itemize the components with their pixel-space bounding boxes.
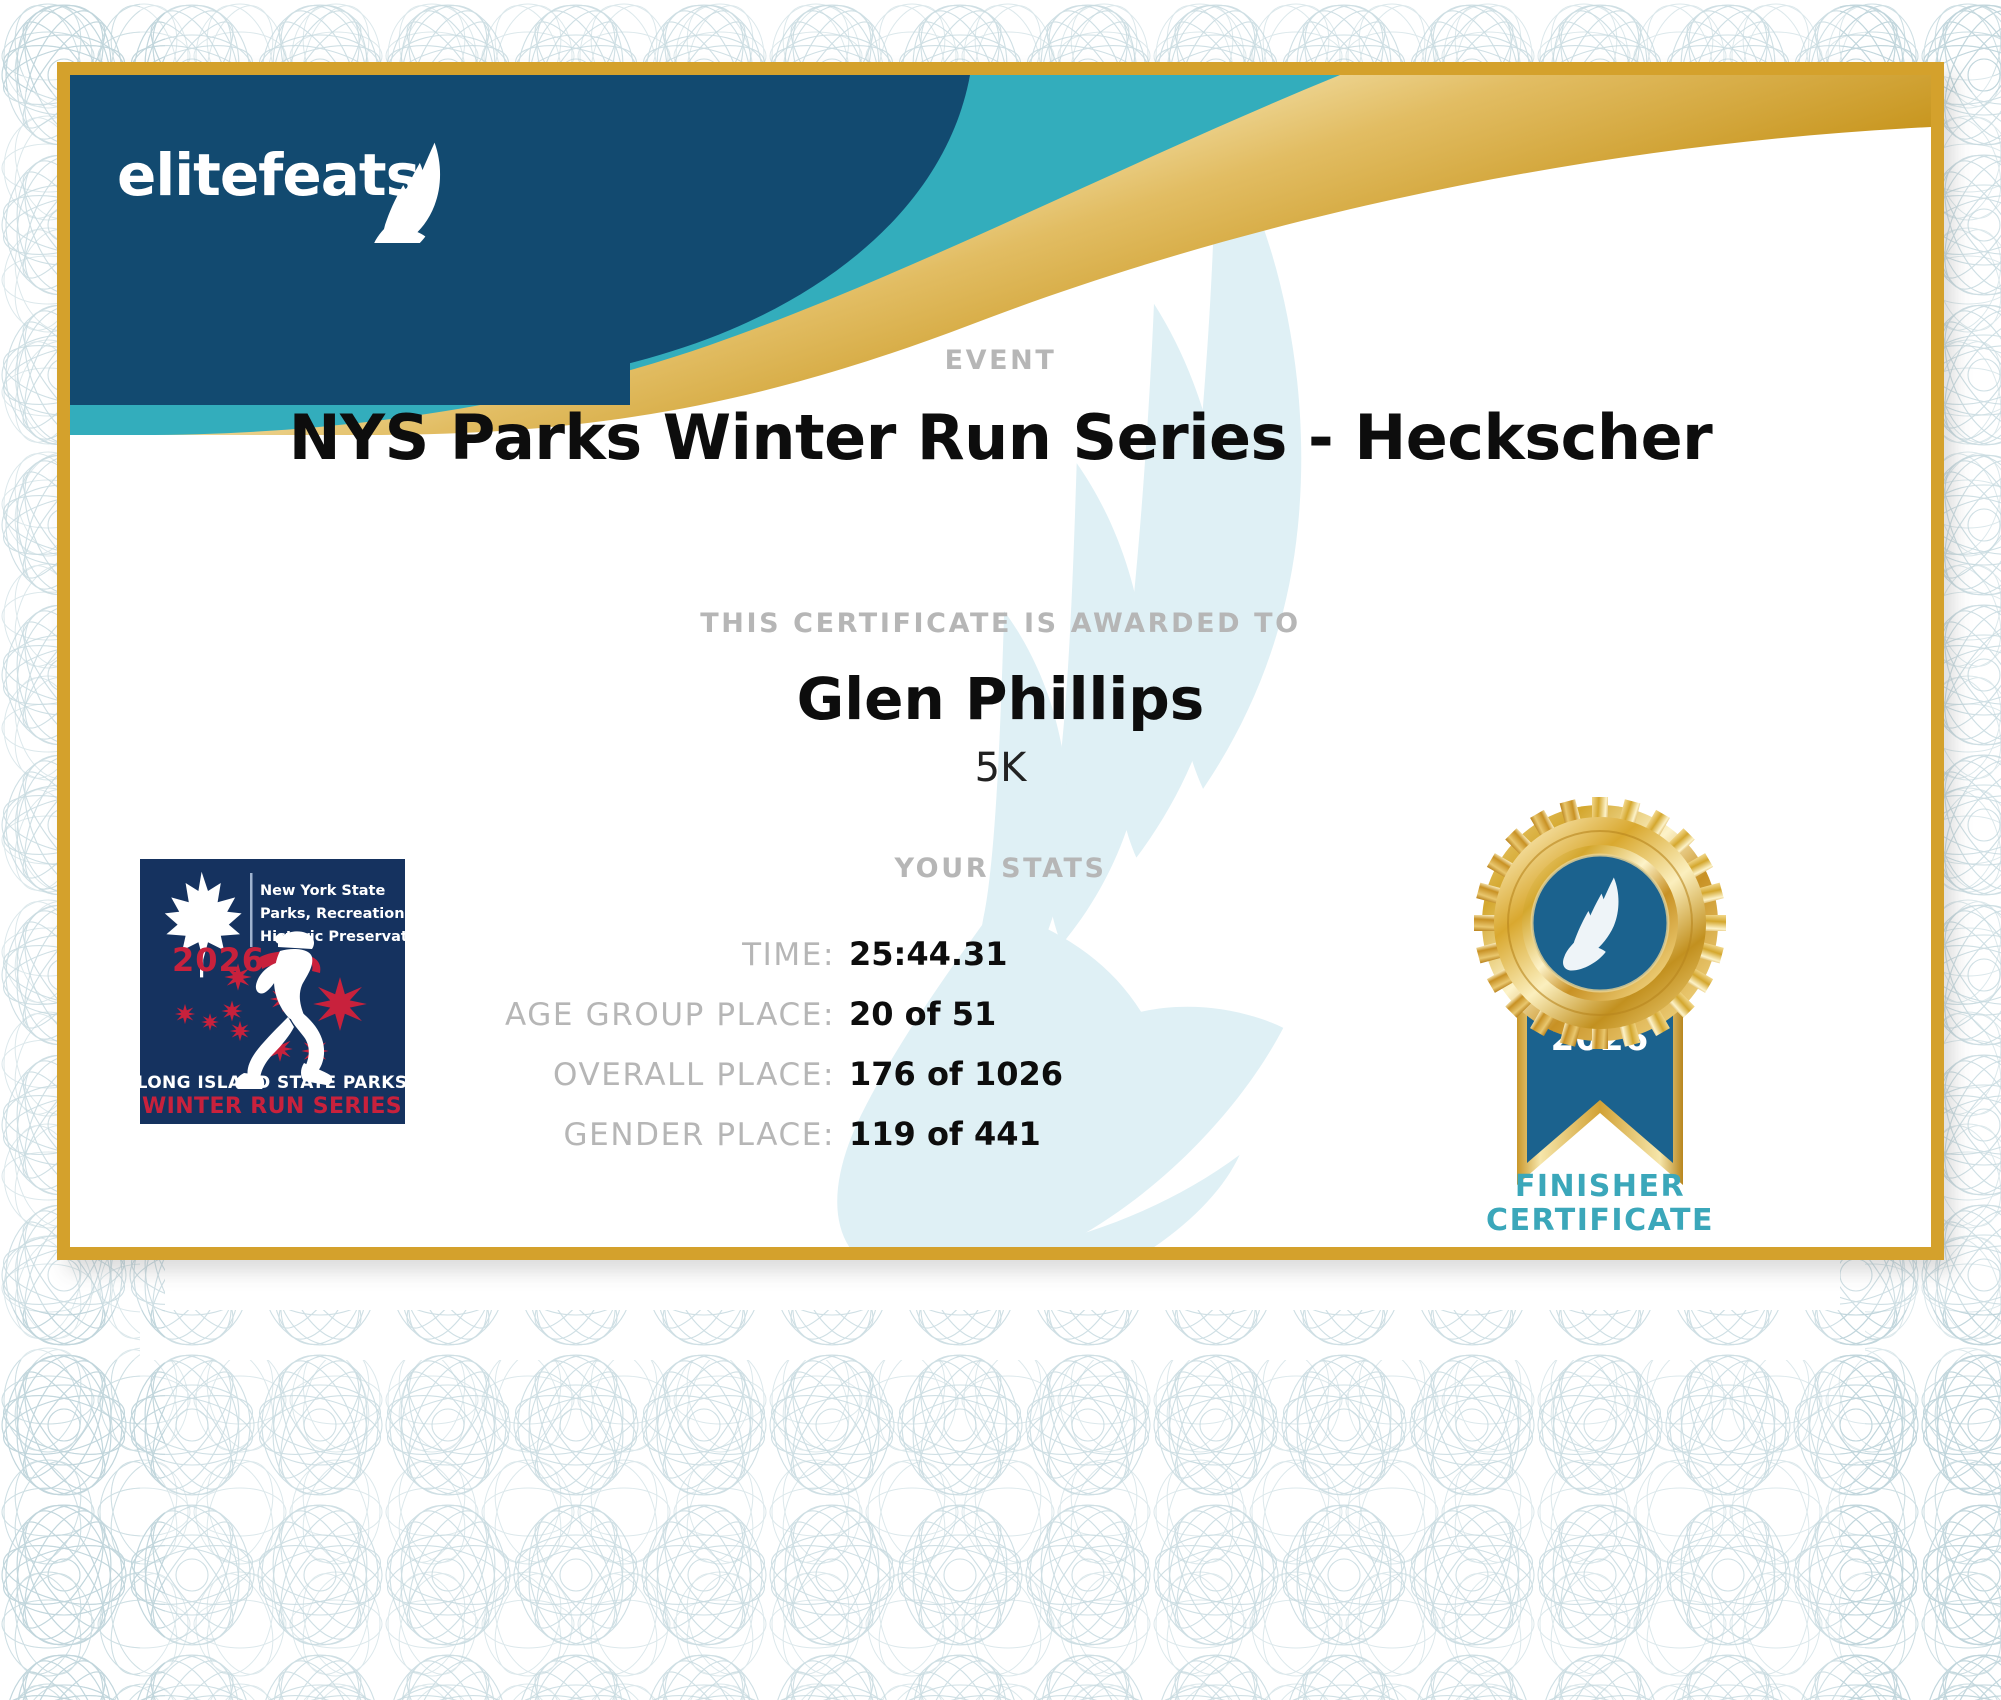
logo-year: 2026: [172, 941, 265, 979]
medal-disc: [1474, 797, 1726, 1049]
event-title: NYS Parks Winter Run Series - Heckscher: [70, 401, 1931, 474]
series-line-1: LONG ISLAND STATE PARKS: [140, 1073, 405, 1093]
finisher-caption-line-2: CERTIFICATE: [1400, 1204, 1800, 1238]
race-distance: 5K: [70, 745, 1931, 791]
event-label: EVENT: [70, 345, 1931, 376]
stat-value-gender-place: 119 of 441: [849, 1115, 1041, 1153]
agency-line-2: Parks, Recreation and: [260, 906, 405, 922]
finisher-caption: FINISHER CERTIFICATE: [1400, 1170, 1800, 1238]
stat-value-time: 25:44.31: [849, 935, 1008, 973]
event-series-logo: New York State Parks, Recreation and His…: [140, 859, 405, 1124]
awarded-to-label: THIS CERTIFICATE IS AWARDED TO: [70, 608, 1931, 639]
agency-line-1: New York State: [260, 883, 385, 899]
series-line-2: WINTER RUN SERIES: [142, 1094, 402, 1119]
certificate-card: elitefeats EVENT NYS Parks Winter Run Se…: [57, 62, 1944, 1260]
stat-value-age-group-place: 20 of 51: [849, 995, 996, 1033]
recipient-name: Glen Phillips: [70, 665, 1931, 733]
finisher-caption-line-1: FINISHER: [1400, 1170, 1800, 1204]
stat-value-overall-place: 176 of 1026: [849, 1055, 1063, 1093]
